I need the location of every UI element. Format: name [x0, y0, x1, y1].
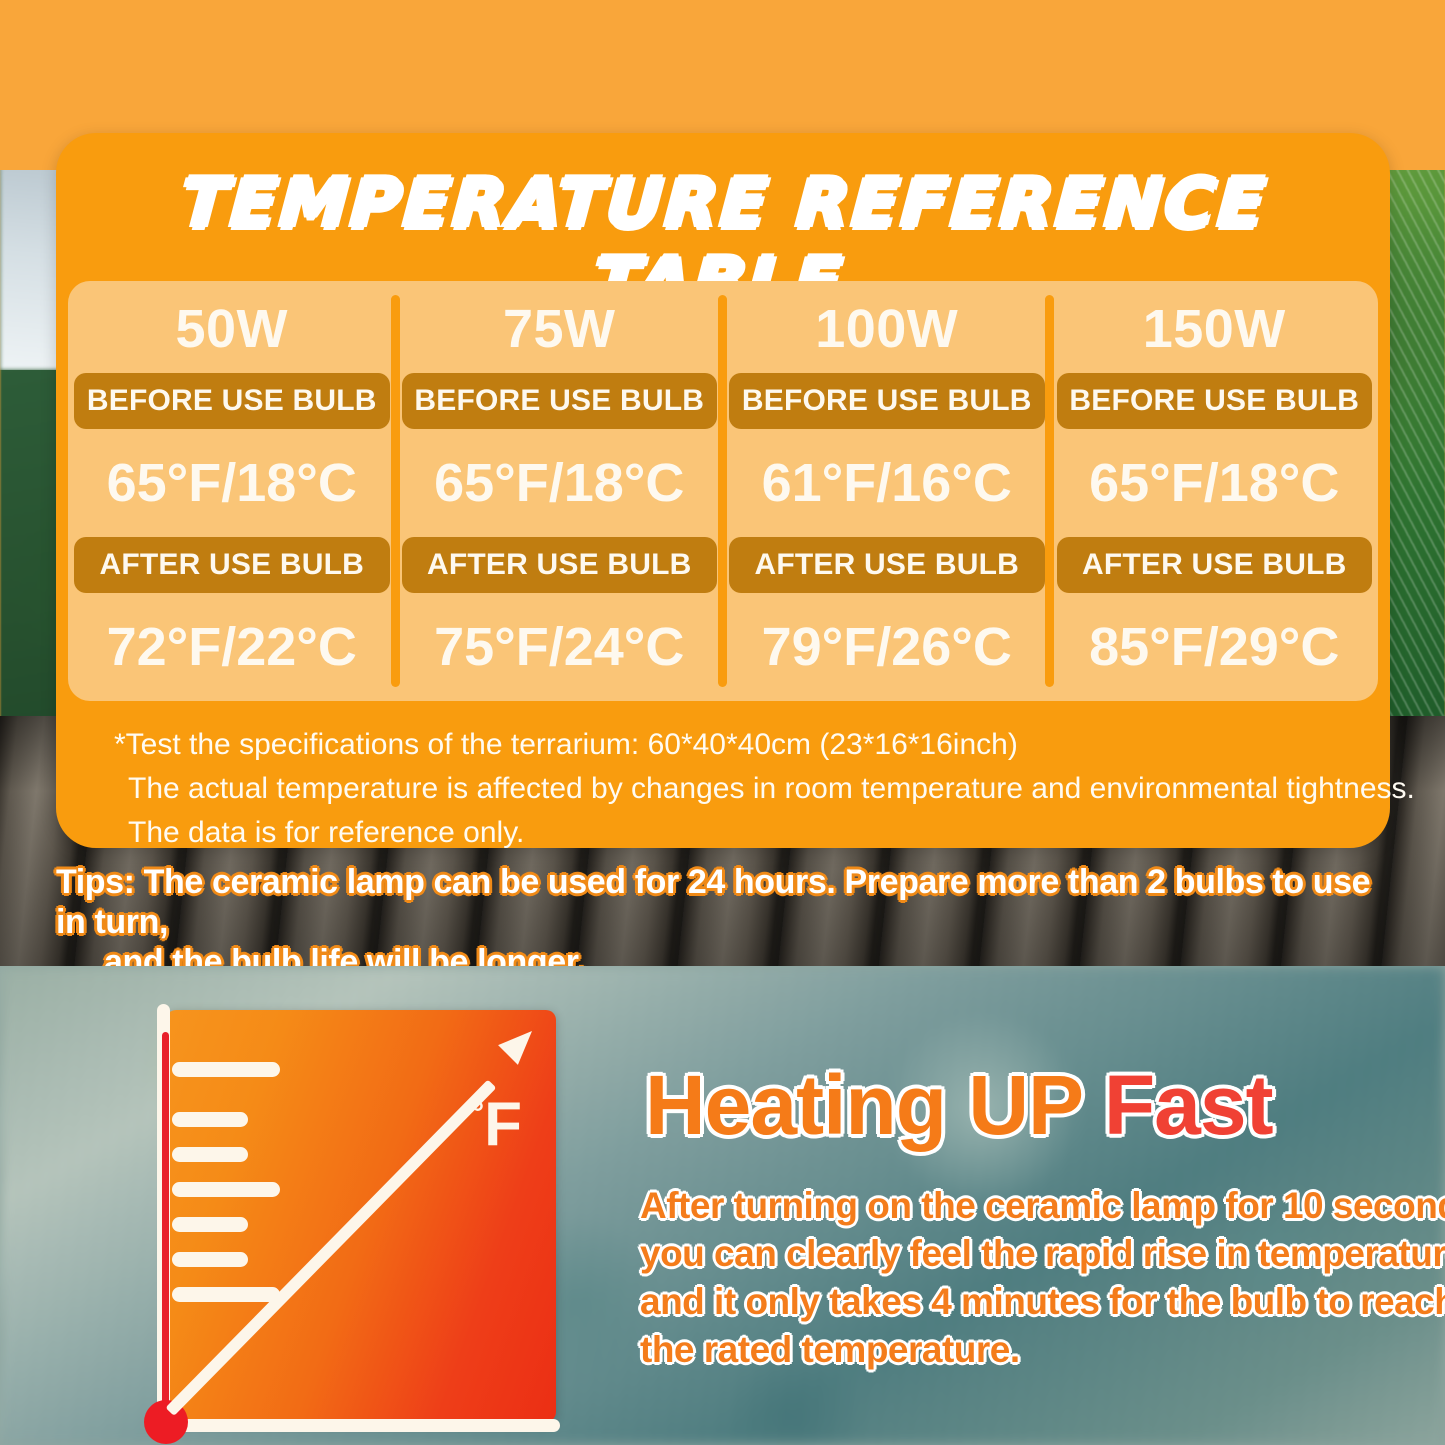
after-use-temperature: 75°F/24°C	[396, 593, 724, 701]
body-line: After turning on the ceramic lamp for 10…	[640, 1182, 1400, 1230]
fahrenheit-unit-label: °F	[471, 1094, 522, 1156]
row-label-before-use-bulb: BEFORE USE BULB	[729, 373, 1045, 429]
before-use-temperature: 65°F/18°C	[68, 429, 396, 537]
body-line: and it only takes 4 minutes for the bulb…	[640, 1278, 1400, 1326]
scale-tick-long	[172, 1182, 280, 1197]
section-heading: Heating UP Fast	[645, 1063, 1273, 1147]
tips-line: and the bulb life will be longer.	[56, 942, 1396, 966]
table-column-50w: 50W BEFORE USE BULB 65°F/18°C AFTER USE …	[68, 281, 396, 701]
row-label-after-use-bulb: AFTER USE BULB	[729, 537, 1045, 593]
after-use-temperature: 72°F/22°C	[68, 593, 396, 701]
after-use-temperature: 79°F/26°C	[723, 593, 1051, 701]
body-line: the rated temperature.	[640, 1326, 1400, 1374]
rising-trend-arrow-line	[165, 1079, 496, 1416]
row-label-before-use-bulb: BEFORE USE BULB	[402, 373, 718, 429]
table-column-100w: 100W BEFORE USE BULB 61°F/16°C AFTER USE…	[723, 281, 1051, 701]
footnote-line: The actual temperature is affected by ch…	[114, 767, 1354, 811]
row-label-after-use-bulb: AFTER USE BULB	[74, 537, 390, 593]
column-divider	[1045, 295, 1054, 687]
section-body-text: After turning on the ceramic lamp for 10…	[640, 1182, 1400, 1374]
thermometer-mercury	[162, 1032, 169, 1412]
before-use-temperature: 65°F/18°C	[1051, 429, 1379, 537]
column-divider	[718, 295, 727, 687]
table-column-75w: 75W BEFORE USE BULB 65°F/18°C AFTER USE …	[396, 281, 724, 701]
footnote-line: *Test the specifications of the terrariu…	[114, 723, 1354, 767]
scale-tick-short	[172, 1252, 248, 1267]
footnote-text: *Test the specifications of the terrariu…	[114, 723, 1354, 855]
scale-tick-long	[172, 1062, 280, 1077]
body-line: you can clearly feel the rapid rise in t…	[640, 1230, 1400, 1278]
table-column-150w: 150W BEFORE USE BULB 65°F/18°C AFTER USE…	[1051, 281, 1379, 701]
temperature-rise-chart-icon: °F	[166, 1010, 556, 1422]
footnote-line: The data is for reference only.	[114, 811, 1354, 855]
column-header-wattage: 50W	[68, 281, 396, 373]
column-header-wattage: 100W	[723, 281, 1051, 373]
row-label-before-use-bulb: BEFORE USE BULB	[1057, 373, 1373, 429]
scale-tick-short	[172, 1147, 248, 1162]
chart-x-axis	[160, 1419, 560, 1432]
column-header-wattage: 150W	[1051, 281, 1379, 373]
before-use-temperature: 65°F/18°C	[396, 429, 724, 537]
temperature-reference-card: TEMPERATURE REFERENCE TABLE 50W BEFORE U…	[56, 133, 1390, 848]
scale-tick-long	[172, 1287, 280, 1302]
before-use-temperature: 61°F/16°C	[723, 429, 1051, 537]
temperature-table: 50W BEFORE USE BULB 65°F/18°C AFTER USE …	[68, 281, 1378, 701]
tips-line: Tips: The ceramic lamp can be used for 2…	[56, 862, 1396, 942]
row-label-after-use-bulb: AFTER USE BULB	[1057, 537, 1373, 593]
tips-text: Tips: The ceramic lamp can be used for 2…	[56, 862, 1396, 966]
row-label-after-use-bulb: AFTER USE BULB	[402, 537, 718, 593]
heading-part-heating-up: Heating UP	[645, 1058, 1104, 1152]
column-header-wattage: 75W	[396, 281, 724, 373]
temperature-table-section: TEMPERATURE REFERENCE TABLE 50W BEFORE U…	[0, 0, 1445, 966]
scale-tick-short	[172, 1112, 248, 1127]
fahrenheit-letter: F	[484, 1090, 522, 1159]
row-label-before-use-bulb: BEFORE USE BULB	[74, 373, 390, 429]
scale-tick-short	[172, 1217, 248, 1232]
rising-trend-arrow-head	[498, 1021, 542, 1065]
column-divider	[391, 295, 400, 687]
heading-part-fast: Fast	[1104, 1058, 1273, 1152]
degree-symbol: °	[471, 1094, 484, 1130]
after-use-temperature: 85°F/29°C	[1051, 593, 1379, 701]
